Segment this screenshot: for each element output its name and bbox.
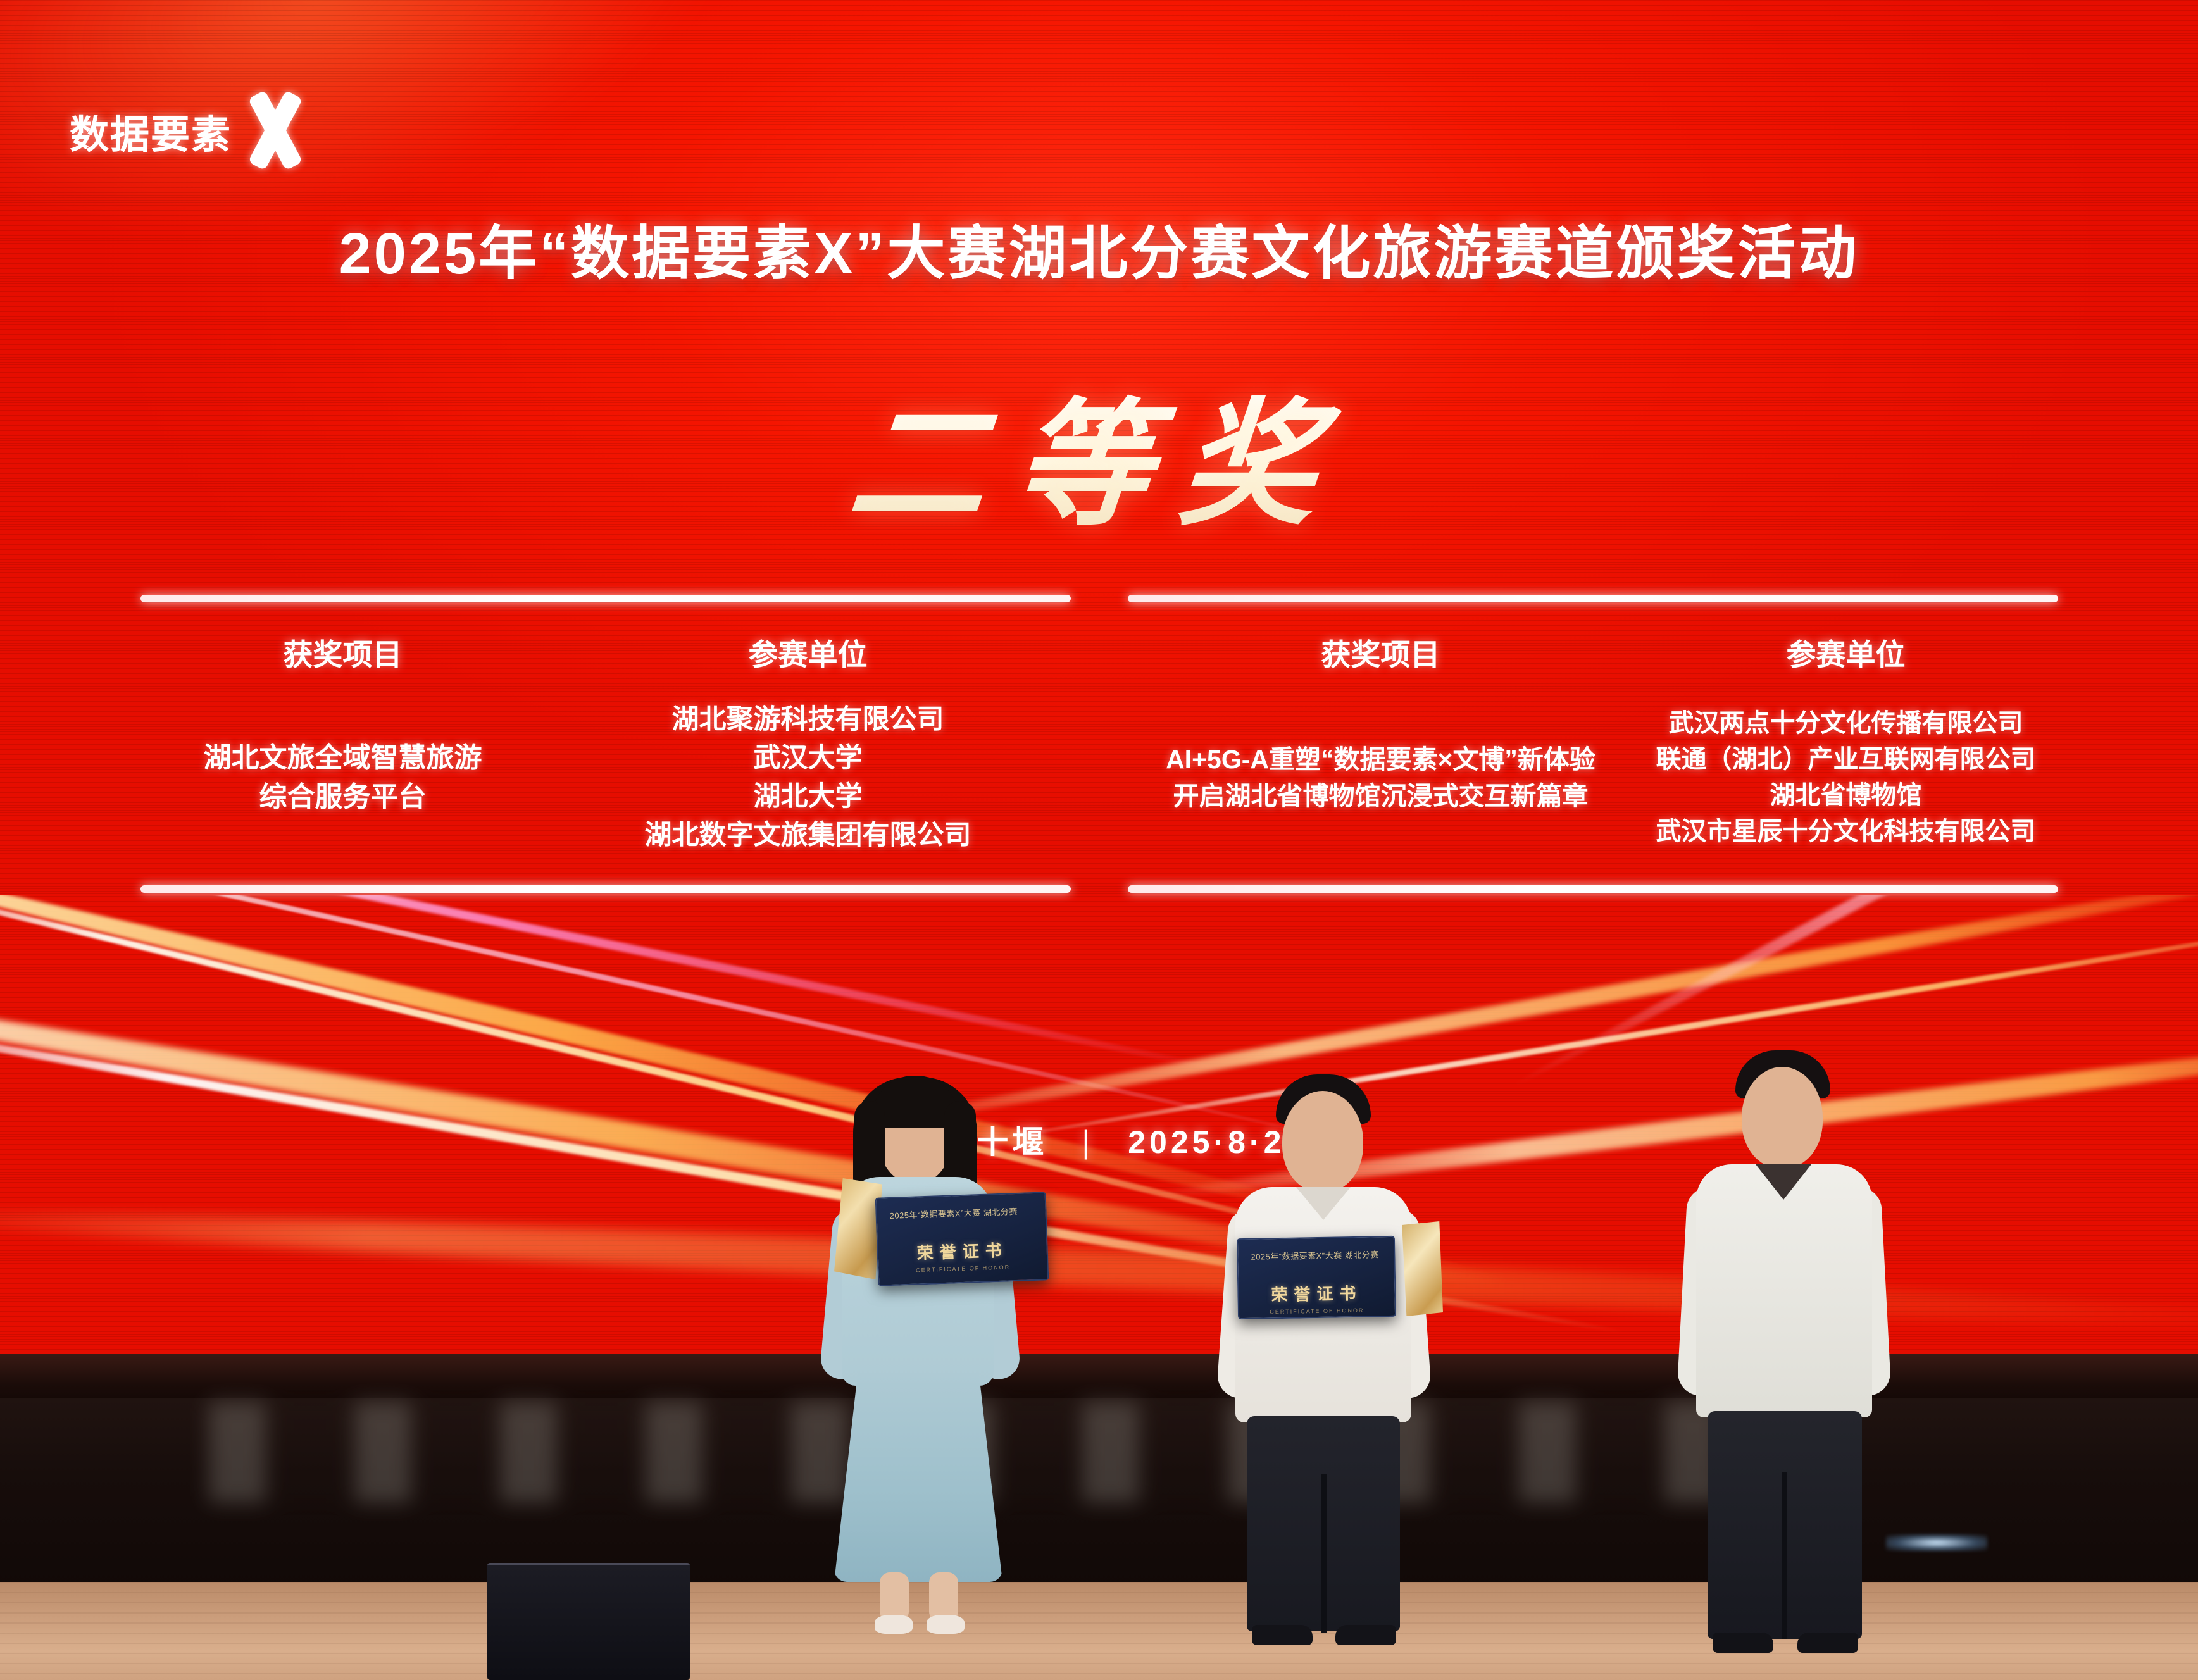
unit-line: 联通（湖北）产业互联网有限公司 <box>1634 742 2058 778</box>
logo-wordmark: 数据要素 <box>70 103 232 159</box>
winners-panels: 获奖项目 参赛单位 湖北文旅全域智慧旅游 综合服务平台 湖北聚游科技有限公司 武… <box>0 595 2198 893</box>
unit-line: 湖北聚游科技有限公司 <box>546 700 1071 739</box>
panel-top-rule <box>1128 595 2058 602</box>
winner-2-units: 武汉两点十分文化传播有限公司 联通（湖北）产业互联网有限公司 湖北省博物馆 武汉… <box>1634 706 2058 849</box>
panel-top-rule <box>140 595 1071 602</box>
event-logo: 数据要素 <box>70 94 310 168</box>
trouser-seam <box>1782 1472 1787 1639</box>
head <box>1742 1067 1823 1168</box>
winner-2-project: AI+5G-A重塑“数据要素×文博”新体验 开启湖北省博物馆沉浸式交互新篇章 <box>1128 741 1634 814</box>
winner-1-units: 湖北聚游科技有限公司 武汉大学 湖北大学 湖北数字文旅集团有限公司 <box>546 700 1071 855</box>
award-recipient-1 <box>816 1063 1025 1633</box>
winner-panel-2: 获奖项目 参赛单位 AI+5G-A重塑“数据要素×文博”新体验 开启湖北省博物馆… <box>1128 595 2058 893</box>
project-line: 综合服务平台 <box>140 778 546 817</box>
footer-separator: | <box>1082 1124 1094 1160</box>
right-shoe <box>1335 1625 1396 1645</box>
panel-bottom-rule <box>140 885 1071 893</box>
panel-bottom-rule <box>1128 885 2058 893</box>
event-headline: 2025年“数据要素X”大赛湖北分赛文化旅游赛道颁奖活动 <box>0 206 2198 290</box>
certificate-title: 荣誉证书 <box>1251 1280 1382 1306</box>
column-header-project: 获奖项目 <box>140 630 546 674</box>
column-header-project: 获奖项目 <box>1128 630 1634 674</box>
unit-line: 武汉两点十分文化传播有限公司 <box>1634 706 2058 742</box>
award-recipient-3 <box>1677 1044 1886 1652</box>
certificate-title: 荣誉证书 <box>890 1236 1034 1265</box>
right-shoe <box>1797 1633 1858 1653</box>
winner-panel-1: 获奖项目 参赛单位 湖北文旅全域智慧旅游 综合服务平台 湖北聚游科技有限公司 武… <box>140 595 1071 893</box>
unit-line: 武汉市星辰十分文化科技有限公司 <box>1634 814 2058 850</box>
project-line: 开启湖北省博物馆沉浸式交互新篇章 <box>1128 778 1634 814</box>
certificate-subtitle: CERTIFICATE OF HONOR <box>892 1263 1035 1274</box>
winner-1-project: 湖北文旅全域智慧旅游 综合服务平台 <box>140 738 546 818</box>
logo-x-mark-icon <box>242 94 310 168</box>
project-line: AI+5G-A重塑“数据要素×文博”新体验 <box>1128 741 1634 778</box>
stage-monitor-speaker <box>487 1563 690 1680</box>
award-certificate-1: 2025年“数据要素X”大赛 湖北分赛 荣誉证书 CERTIFICATE OF … <box>875 1192 1049 1286</box>
project-line: 湖北文旅全域智慧旅游 <box>140 738 546 778</box>
unit-line: 湖北省博物馆 <box>1634 778 2058 814</box>
certificate-subtitle: CERTIFICATE OF HONOR <box>1252 1307 1382 1316</box>
panel-2-header-row: 获奖项目 参赛单位 <box>1128 602 2058 695</box>
unit-line: 武汉大学 <box>546 739 1071 778</box>
torso-shirt <box>1696 1164 1872 1417</box>
certificate-header-text: 2025年“数据要素X”大赛 湖北分赛 <box>889 1205 1033 1222</box>
unit-line: 湖北数字文旅集团有限公司 <box>546 816 1071 855</box>
award-level-title: 二等奖 <box>0 354 2198 551</box>
floor-light-reflection <box>1886 1534 1987 1551</box>
skirt <box>834 1373 1002 1582</box>
column-header-unit: 参赛单位 <box>1634 630 2058 674</box>
certificate-header-text: 2025年“数据要素X”大赛 湖北分赛 <box>1251 1248 1381 1263</box>
award-certificate-2: 2025年“数据要素X”大赛 湖北分赛 荣誉证书 CERTIFICATE OF … <box>1237 1236 1396 1319</box>
panel-1-header-row: 获奖项目 参赛单位 <box>140 602 1071 695</box>
left-shoe <box>875 1615 913 1634</box>
unit-line: 湖北大学 <box>546 778 1071 816</box>
panel-1-body-row: 湖北文旅全域智慧旅游 综合服务平台 湖北聚游科技有限公司 武汉大学 湖北大学 湖… <box>140 695 1071 885</box>
award-ceremony-stage-photo: 数据要素 2025年“数据要素X”大赛湖北分赛文化旅游赛道颁奖活动 二等奖 获奖… <box>0 0 2198 1680</box>
right-shoe <box>927 1615 965 1634</box>
column-header-unit: 参赛单位 <box>546 630 1071 674</box>
ribbon-streak-gold-6 <box>958 909 2198 1148</box>
panel-2-body-row: AI+5G-A重塑“数据要素×文博”新体验 开启湖北省博物馆沉浸式交互新篇章 武… <box>1128 695 2058 885</box>
head <box>1282 1091 1363 1192</box>
left-shoe <box>1252 1625 1313 1645</box>
award-recipient-2 <box>1221 1069 1424 1645</box>
trouser-seam <box>1321 1474 1327 1633</box>
left-shoe <box>1713 1633 1773 1653</box>
